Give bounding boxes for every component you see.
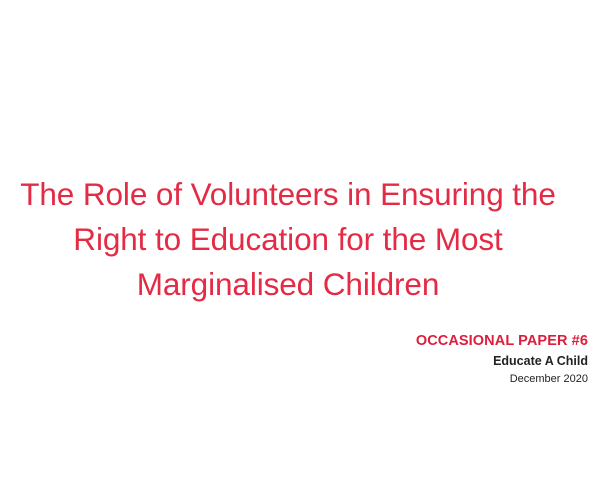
organisation-label: Educate A Child bbox=[228, 352, 588, 371]
cover-page: The Role of Volunteers in Ensuring the R… bbox=[0, 0, 600, 496]
colophon-block: OCCASIONAL PAPER #6 Educate A Child Dece… bbox=[228, 331, 588, 388]
publish-date-label: December 2020 bbox=[228, 371, 588, 388]
paper-number-label: OCCASIONAL PAPER #6 bbox=[228, 331, 588, 352]
title-block: The Role of Volunteers in Ensuring the R… bbox=[10, 172, 566, 307]
page-title: The Role of Volunteers in Ensuring the R… bbox=[10, 172, 566, 307]
